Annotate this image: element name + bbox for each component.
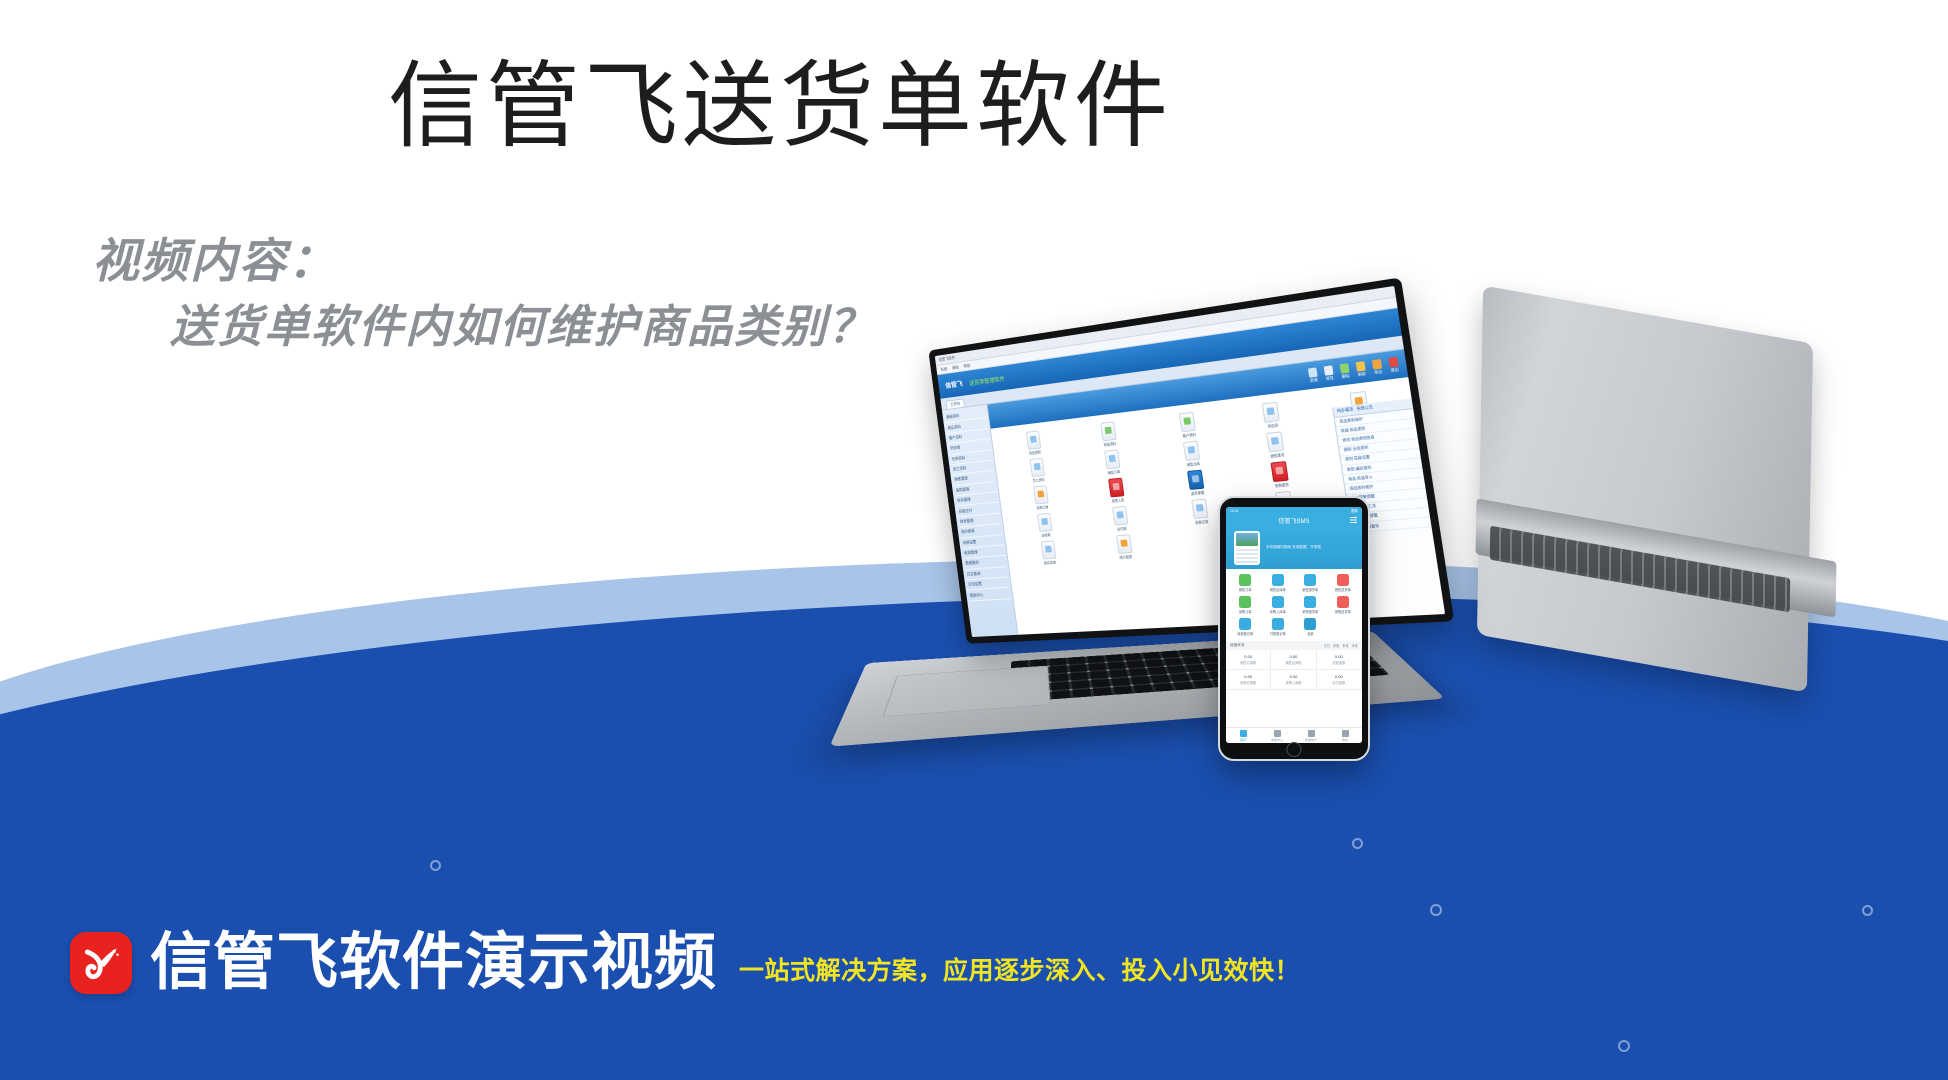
phone-stat-label: 应付金额 bbox=[1317, 680, 1361, 685]
toolbar-button-label: 新增 bbox=[1310, 377, 1318, 383]
phone-section-tag[interactable]: 今日 bbox=[1324, 643, 1330, 648]
toolbar-button-label: 导出 bbox=[1374, 369, 1383, 375]
phone-stat-label: 应收金额 bbox=[1317, 660, 1361, 665]
phone-grid-item-label: 采购入库单 bbox=[1270, 609, 1286, 614]
phone-grid-item[interactable]: 销售送货单 bbox=[1327, 574, 1360, 592]
phone-stat-cell: 0.00销售出库额 bbox=[1271, 650, 1316, 670]
phone-stat-cell: 0.00采购入库额 bbox=[1271, 670, 1316, 690]
phone-grid-item[interactable]: 采购退货单 bbox=[1294, 596, 1327, 614]
smartphone: 10:24 图标 信管飞SMS 手机端随时随地 查询数据、开单据 销售订单销售出… bbox=[1218, 496, 1370, 761]
phone-tab-doc[interactable]: 单据中心 bbox=[1260, 728, 1294, 743]
footer-brand-name: 信管飞软件演示视频 bbox=[150, 932, 717, 994]
menu-item[interactable]: 系统 bbox=[940, 367, 947, 372]
app-grid-icon-label: 销售订单 bbox=[1107, 469, 1120, 475]
menu-item[interactable]: 基础 bbox=[952, 365, 959, 370]
phone-grid-item[interactable]: 采购入库单 bbox=[1262, 596, 1295, 614]
toolbar-button-icon bbox=[1308, 367, 1318, 377]
app-grid-icon-glyph bbox=[1033, 485, 1049, 504]
toolbar-button-label: 删除 bbox=[1342, 373, 1350, 379]
decorative-dot bbox=[1862, 905, 1873, 916]
phone-stat-value: 0.00 bbox=[1317, 674, 1361, 679]
phone-grid-item-icon bbox=[1272, 618, 1284, 630]
phone-home-button[interactable] bbox=[1287, 742, 1302, 757]
xinguanfei-logo-icon bbox=[70, 932, 132, 994]
app-grid-icon-glyph bbox=[1104, 449, 1120, 469]
toolbar-button-icon bbox=[1340, 363, 1350, 373]
app-brand-note: 送货单管理软件 bbox=[969, 374, 1005, 387]
phone-grid-item-icon bbox=[1272, 596, 1284, 608]
app-grid-icon[interactable]: 采购退货 bbox=[1237, 458, 1325, 492]
right-panel-tab[interactable]: 待办事项 bbox=[1337, 407, 1354, 414]
app-grid-icon[interactable]: 销售退货 bbox=[1232, 427, 1320, 462]
app-grid-icon-glyph bbox=[1029, 458, 1045, 477]
app-grid-icon-label: 采购退货 bbox=[1274, 482, 1289, 488]
phone-grid-item[interactable]: 采购订单 bbox=[1229, 596, 1262, 614]
app-grid-icon-glyph bbox=[1108, 478, 1124, 498]
slide-root: 信管飞送货单软件 视频内容： 送货单软件内如何维护商品类别？ 信管飞软件 bbox=[0, 0, 1948, 1080]
phone-grid-item-label: 采购订单 bbox=[1239, 609, 1252, 614]
phone-grid-item-icon bbox=[1337, 596, 1349, 608]
app-toolbar-button[interactable]: 导出 bbox=[1372, 358, 1383, 375]
app-grid-icon[interactable]: 采购入库 bbox=[1077, 475, 1156, 507]
phone-grid-item-label: 销售退货单 bbox=[1302, 587, 1318, 592]
app-grid-icon-glyph bbox=[1116, 534, 1132, 554]
home-icon bbox=[1240, 730, 1247, 737]
app-grid-icon-label: 收款记录 bbox=[1195, 519, 1209, 525]
app-grid-icon[interactable]: 应付款 bbox=[1081, 503, 1160, 534]
phone-grid-item[interactable]: 付款登记单 bbox=[1262, 618, 1295, 636]
toolbar-button-icon bbox=[1356, 361, 1366, 372]
phone-section-tag[interactable]: 本月 bbox=[1342, 643, 1348, 648]
app-grid-icon-label: 统计报表 bbox=[1119, 554, 1132, 560]
phone-stat-cell: 0.00销售订单额 bbox=[1226, 650, 1271, 670]
phone-grid-item[interactable]: 收款登记单 bbox=[1229, 618, 1262, 636]
toolbar-button-icon bbox=[1372, 358, 1382, 369]
phone-stat-label: 采购入库额 bbox=[1271, 680, 1315, 685]
phone-tab-label: 我的 bbox=[1342, 738, 1348, 742]
app-grid-icon-label: 员工资料 bbox=[1032, 477, 1044, 483]
app-toolbar-button[interactable]: 退出 bbox=[1388, 356, 1399, 373]
phone-stat-label: 采购订单额 bbox=[1226, 680, 1270, 685]
app-grid-icon-label: 采购订单 bbox=[1036, 504, 1048, 510]
phone-section-header: 经营状况 今日本周本月本年 bbox=[1226, 641, 1362, 650]
app-grid-icon-glyph bbox=[1179, 412, 1196, 433]
decorative-dot bbox=[1618, 1040, 1630, 1052]
phone-stat-label: 销售出库额 bbox=[1271, 660, 1315, 665]
doc-icon bbox=[1274, 730, 1281, 737]
phone-section-tag[interactable]: 本周 bbox=[1333, 643, 1339, 648]
app-grid-icon-label: 供应商 bbox=[1267, 422, 1278, 428]
app-grid-icon-glyph bbox=[1271, 461, 1289, 482]
app-grid-icon[interactable]: 送货单据 bbox=[1155, 466, 1238, 499]
phone-stat-value: 0.00 bbox=[1271, 674, 1315, 679]
phone-grid-item-icon bbox=[1272, 574, 1284, 586]
phone-tab-chart[interactable]: 数据统计 bbox=[1294, 728, 1328, 743]
phone-grid-item-label: 销售出库单 bbox=[1270, 587, 1286, 592]
app-grid-icon-label: 销售出库 bbox=[1186, 461, 1200, 467]
decorative-dot bbox=[1430, 904, 1442, 916]
phone-stat-cell: 0.00应收金额 bbox=[1317, 650, 1362, 670]
phone-stat-value: 0.00 bbox=[1317, 654, 1361, 659]
phone-banner-device-icon bbox=[1234, 531, 1260, 565]
phone-screen: 10:24 图标 信管飞SMS 手机端随时随地 查询数据、开单据 销售订单销售出… bbox=[1226, 507, 1362, 743]
app-grid-icon[interactable]: 供应商 bbox=[1228, 397, 1316, 432]
phone-grid-item[interactable]: 采购送货单 bbox=[1327, 596, 1360, 614]
phone-grid-item-label: 收款登记单 bbox=[1237, 631, 1253, 636]
phone-tab-label: 单据中心 bbox=[1271, 738, 1283, 742]
phone-grid-item[interactable]: 销售退货单 bbox=[1294, 574, 1327, 592]
app-grid-icon[interactable]: 销售订单 bbox=[1074, 446, 1153, 478]
chart-icon bbox=[1308, 730, 1315, 737]
phone-status-icons: 图标 bbox=[1351, 508, 1358, 513]
user-icon bbox=[1342, 730, 1349, 737]
app-grid-icon[interactable]: 客户资料 bbox=[1147, 408, 1230, 442]
phone-app-header: 信管飞SMS bbox=[1226, 514, 1362, 527]
app-grid-icon-glyph bbox=[1040, 540, 1056, 559]
app-brand-mark: 信管飞 bbox=[945, 379, 963, 391]
phone-tab-user[interactable]: 我的 bbox=[1328, 728, 1362, 743]
phone-grid-item-label: 采购退货单 bbox=[1302, 609, 1318, 614]
app-grid-icon-glyph bbox=[1187, 470, 1204, 490]
app-grid-icon-label: 送货单据 bbox=[1191, 490, 1205, 496]
hamburger-icon[interactable] bbox=[1350, 517, 1357, 523]
phone-status-bar: 10:24 图标 bbox=[1226, 507, 1362, 514]
phone-tab-bar: 首页单据中心数据统计我的 bbox=[1226, 727, 1362, 743]
toolbar-button-icon bbox=[1324, 365, 1334, 375]
footer-tagline: 一站式解决方案，应用逐步深入、投入小见效快！ bbox=[739, 951, 1300, 987]
phone-grid-item-label: 采购送货单 bbox=[1335, 609, 1351, 614]
app-grid-icon-label: 采购入库 bbox=[1111, 497, 1124, 503]
phone-stat-cell: 0.00采购订单额 bbox=[1226, 670, 1271, 690]
app-grid-icon[interactable]: 应收款 bbox=[1008, 510, 1083, 540]
app-grid-icon[interactable]: 采购订单 bbox=[1004, 482, 1079, 513]
phone-stat-value: 0.00 bbox=[1226, 654, 1270, 659]
phone-tab-label: 首页 bbox=[1240, 738, 1246, 742]
phone-grid-item-label: 全部 bbox=[1307, 631, 1313, 636]
app-window-title: 信管飞软件 bbox=[938, 356, 955, 362]
menu-item[interactable]: 帮助 bbox=[963, 363, 970, 368]
laptop-screen-shell: 信管飞软件 系统 基础 帮助 信管飞 送货单管理软件 工作台 bbox=[928, 277, 1454, 643]
laptop-trackpad bbox=[883, 666, 1051, 717]
app-grid-icon-glyph bbox=[1266, 431, 1284, 452]
app-grid-icon-label: 商品资料 bbox=[1103, 441, 1116, 447]
phone-grid-item-icon bbox=[1337, 574, 1349, 586]
phone-banner: 手机端随时随地 查询数据、开单据 bbox=[1226, 527, 1362, 569]
app-grid-icon-label: 商品类别 bbox=[1029, 449, 1041, 455]
phone-app-title: 信管飞SMS bbox=[1278, 516, 1309, 525]
app-grid-icon-glyph bbox=[1037, 513, 1053, 532]
app-grid-icon-glyph bbox=[1025, 430, 1040, 449]
phone-grid-item-icon bbox=[1239, 618, 1251, 630]
phone-grid-item-label: 销售订单 bbox=[1239, 587, 1252, 592]
phone-stat-cell: 0.00应付金额 bbox=[1317, 670, 1362, 690]
page-title: 信管飞送货单软件 bbox=[0, 52, 1560, 163]
app-grid-icon-label: 库存查询 bbox=[1044, 560, 1057, 566]
app-toolbar-button[interactable]: 删除 bbox=[1340, 363, 1351, 380]
phone-tab-label: 数据统计 bbox=[1305, 738, 1317, 742]
app-grid-icon-label: 客户资料 bbox=[1182, 432, 1196, 438]
phone-status-time: 10:24 bbox=[1230, 509, 1239, 513]
phone-stat-value: 0.00 bbox=[1226, 674, 1270, 679]
phone-grid-item-label: 付款登记单 bbox=[1270, 631, 1286, 636]
phone-section-title: 经营状况 bbox=[1230, 643, 1244, 648]
app-grid-icon-label: 销售退货 bbox=[1270, 452, 1285, 459]
app-grid-icon[interactable]: 统计报表 bbox=[1085, 532, 1164, 562]
app-grid-icon-glyph bbox=[1112, 506, 1128, 526]
phone-grid-item-icon bbox=[1304, 618, 1316, 630]
app-grid-icon-label: 应收款 bbox=[1041, 532, 1051, 537]
app-grid-icon[interactable]: 商品资料 bbox=[1070, 418, 1149, 451]
phone-tab-home[interactable]: 首页 bbox=[1226, 728, 1260, 743]
phone-stat-label: 销售订单额 bbox=[1226, 660, 1270, 665]
footer-brand-bar: 信管飞软件演示视频 一站式解决方案，应用逐步深入、投入小见效快！ bbox=[70, 932, 1300, 994]
phone-grid-item[interactable]: 全部 bbox=[1294, 618, 1327, 636]
phone-grid-item-icon bbox=[1239, 574, 1251, 586]
phone-section-tags: 今日本周本月本年 bbox=[1324, 643, 1359, 648]
app-toolbar-button[interactable]: 修改 bbox=[1324, 365, 1335, 382]
app-grid-icon-label: 应付款 bbox=[1117, 526, 1127, 532]
phone-section-tag[interactable]: 本年 bbox=[1352, 643, 1358, 648]
app-grid-icon-glyph bbox=[1191, 499, 1208, 519]
phone-grid-item[interactable]: 销售订单 bbox=[1229, 574, 1262, 592]
phone-grid-item-icon bbox=[1239, 596, 1251, 608]
phone-stat-value: 0.00 bbox=[1271, 654, 1315, 659]
app-grid-icon[interactable]: 员工资料 bbox=[1000, 455, 1075, 486]
app-sidebar-item[interactable]: 帮助中心 bbox=[968, 588, 1011, 601]
subtitle-label: 视频内容： bbox=[92, 228, 1092, 295]
phone-grid-item[interactable]: 销售出库单 bbox=[1262, 574, 1295, 592]
app-grid-icon-glyph bbox=[1183, 441, 1200, 461]
app-grid-icon[interactable]: 销售出库 bbox=[1151, 437, 1234, 470]
decorative-dot bbox=[430, 860, 441, 871]
phone-banner-text: 手机端随时随地 查询数据、开单据 bbox=[1266, 545, 1321, 550]
phone-grid-item-icon bbox=[1304, 574, 1316, 586]
app-grid-icon-glyph bbox=[1262, 402, 1280, 423]
toolbar-button-label: 退出 bbox=[1390, 367, 1399, 373]
app-grid-icon[interactable]: 库存查询 bbox=[1011, 538, 1086, 567]
phone-grid-item-icon bbox=[1304, 596, 1316, 608]
toolbar-button-icon bbox=[1388, 356, 1398, 367]
app-grid-icon[interactable]: 商品类别 bbox=[997, 427, 1072, 459]
devices-illustration: 信管飞软件 系统 基础 帮助 信管飞 送货单管理软件 工作台 bbox=[880, 300, 1948, 820]
app-grid-icon-glyph bbox=[1100, 421, 1116, 441]
phone-grid-item-label: 销售送货单 bbox=[1335, 587, 1351, 592]
toolbar-button-label: 刷新 bbox=[1358, 371, 1367, 377]
toolbar-button-label: 修改 bbox=[1326, 375, 1334, 381]
phone-icon-grid: 销售订单销售出库单销售退货单销售送货单采购订单采购入库单采购退货单采购送货单收款… bbox=[1226, 569, 1362, 641]
phone-stats-grid: 0.00销售订单额0.00销售出库额0.00应收金额0.00采购订单额0.00采… bbox=[1226, 650, 1362, 690]
app-toolbar-button[interactable]: 新增 bbox=[1308, 367, 1319, 384]
right-panel-tab[interactable]: 系统公告 bbox=[1356, 405, 1373, 412]
app-toolbar-button[interactable]: 刷新 bbox=[1356, 361, 1367, 378]
